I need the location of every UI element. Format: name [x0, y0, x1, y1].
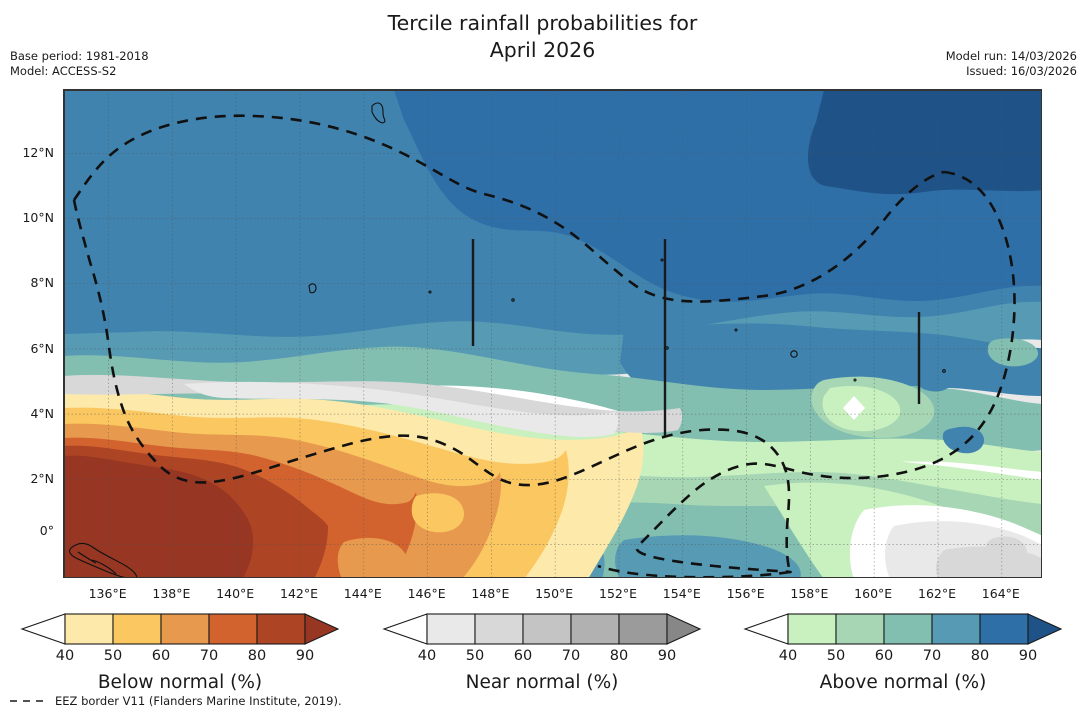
cbar-below-tick-80: 80 — [248, 648, 266, 664]
cbar-above-tick-40: 40 — [779, 648, 797, 664]
colorbar-below-label: Below normal (%) — [10, 672, 350, 693]
lon-tick-158e: 158°E — [790, 586, 828, 601]
cbar-below-tick-40: 40 — [56, 648, 74, 664]
lon-tick-156e: 156°E — [727, 586, 765, 601]
lon-tick-160e: 160°E — [854, 586, 892, 601]
lon-tick-148e: 148°E — [471, 586, 509, 601]
lon-tick-144e: 144°E — [344, 586, 382, 601]
colorbar-near-normal[interactable]: 40 50 60 70 80 90 Near normal (%) — [372, 612, 712, 668]
colorbar-near-label: Near normal (%) — [372, 672, 712, 693]
issued-text: Issued: 16/03/2026 — [946, 64, 1077, 79]
colorbar-above-normal[interactable]: 40 50 60 70 80 90 Above normal (%) — [733, 612, 1073, 668]
lon-tick-146e: 146°E — [408, 586, 446, 601]
lon-tick-142e: 142°E — [280, 586, 318, 601]
cbar-near-tick-90: 90 — [658, 648, 676, 664]
page-title: Tercile rainfall probabilities for April… — [0, 10, 1085, 64]
lat-tick-12n: 12°N — [22, 145, 54, 160]
colorbar-near-ticks: 40 50 60 70 80 90 — [372, 648, 712, 668]
eez-legend-text: EEZ border V11 (Flanders Marine Institut… — [55, 694, 342, 708]
lat-tick-8n: 8°N — [30, 275, 54, 290]
lat-tick-6n: 6°N — [30, 341, 54, 356]
model-run-text: Model run: 14/03/2026 — [946, 49, 1077, 64]
colorbar-above-label: Above normal (%) — [733, 672, 1073, 693]
lon-tick-154e: 154°E — [663, 586, 701, 601]
lon-tick-136e: 136°E — [89, 586, 127, 601]
colorbar-near-swatches — [372, 612, 712, 648]
cbar-near-tick-60: 60 — [514, 648, 532, 664]
colorbar-below-swatches — [10, 612, 350, 648]
contour-fills — [64, 90, 1042, 578]
cbar-above-tick-50: 50 — [827, 648, 845, 664]
cbar-below-tick-60: 60 — [152, 648, 170, 664]
cbar-near-tick-40: 40 — [418, 648, 436, 664]
lat-tick-10n: 10°N — [22, 210, 54, 225]
cbar-below-tick-70: 70 — [200, 648, 218, 664]
lat-tick-0: 0° — [40, 523, 54, 538]
footer-legend: EEZ border V11 (Flanders Marine Institut… — [8, 694, 342, 708]
colorbar-below-ticks: 40 50 60 70 80 90 — [10, 648, 350, 668]
map-contour-plot — [64, 90, 1042, 578]
eez-dash-icon — [8, 696, 50, 706]
cbar-above-tick-70: 70 — [923, 648, 941, 664]
cbar-above-tick-80: 80 — [971, 648, 989, 664]
base-period-text: Base period: 1981-2018 — [10, 49, 149, 64]
cbar-near-tick-50: 50 — [466, 648, 484, 664]
lon-tick-152e: 152°E — [599, 586, 637, 601]
colorbar-above-swatches — [733, 612, 1073, 648]
lon-tick-162e: 162°E — [918, 586, 956, 601]
forecast-map[interactable]: © Commonwealth of Australia 2026, Bureau… — [63, 89, 1042, 578]
cbar-above-tick-60: 60 — [875, 648, 893, 664]
metadata-left: Base period: 1981-2018 Model: ACCESS-S2 — [10, 49, 149, 79]
lat-tick-4n: 4°N — [30, 406, 54, 421]
lon-tick-140e: 140°E — [216, 586, 254, 601]
lat-tick-2n: 2°N — [30, 471, 54, 486]
cbar-below-tick-50: 50 — [104, 648, 122, 664]
lon-tick-150e: 150°E — [535, 586, 573, 601]
colorbar-below-normal[interactable]: 40 50 60 70 80 90 Below normal (%) — [10, 612, 350, 668]
cbar-near-tick-70: 70 — [562, 648, 580, 664]
model-text: Model: ACCESS-S2 — [10, 64, 149, 79]
lon-tick-138e: 138°E — [152, 586, 190, 601]
cbar-below-tick-90: 90 — [296, 648, 314, 664]
colorbar-above-ticks: 40 50 60 70 80 90 — [733, 648, 1073, 668]
lon-tick-164e: 164°E — [982, 586, 1020, 601]
cbar-near-tick-80: 80 — [610, 648, 628, 664]
metadata-right: Model run: 14/03/2026 Issued: 16/03/2026 — [946, 49, 1077, 79]
cbar-above-tick-90: 90 — [1019, 648, 1037, 664]
